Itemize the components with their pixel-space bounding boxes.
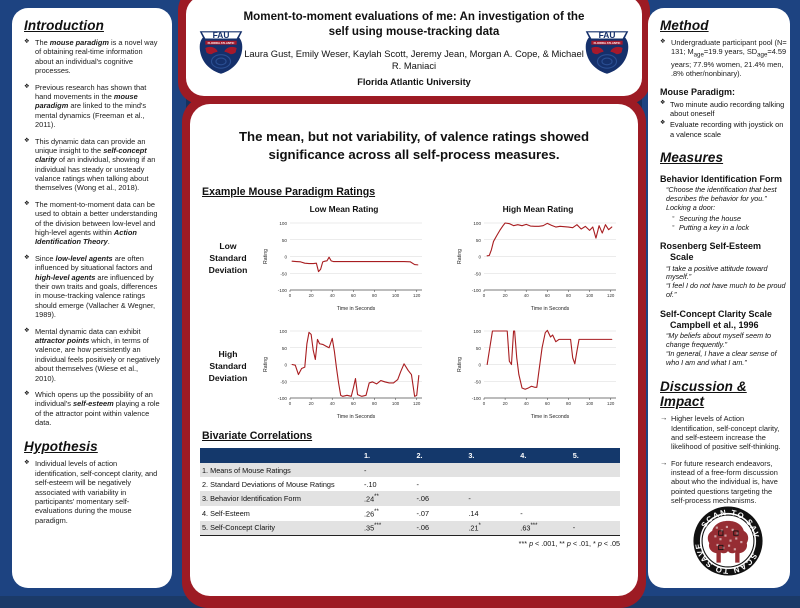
table-row: 3. Behavior Identification Form.24**-.06… [200,491,620,506]
svg-text:FAU: FAU [213,30,230,40]
svg-text:0: 0 [284,255,287,260]
table-cell: -.10 [360,477,412,491]
table-row: 1. Means of Mouse Ratings- [200,463,620,477]
discussion-heading: Discussion & Impact [660,379,788,409]
poster-canvas: FAU FLORIDA ATLANTIC FAU FLORIDA ATLANTI… [0,0,800,596]
measure-quote: “In general, I have a clear sense of who… [666,350,788,368]
svg-text:Time in Seconds: Time in Seconds [531,414,570,420]
brain-qr-icon[interactable]: SCAN TO SAVE SCAN TO SAVE [692,505,764,577]
measures-list: Behavior Identification Form“Choose the … [660,174,788,368]
measure-quote: “My beliefs about myself seem to change … [666,332,788,350]
bullet-item: Which opens up the possibility of an ind… [24,390,160,428]
svg-text:100: 100 [279,221,287,226]
measure-subquote: Putting a key in a lock [672,223,788,232]
table-cell: - [569,521,620,536]
measure-name: Self-Concept Clarity ScaleCampbell et al… [660,309,788,330]
measure-quote: “Choose the identification that best des… [666,186,788,204]
measure-quote: Locking a door: [666,204,788,213]
svg-text:60: 60 [545,401,550,406]
chart-grid: Low Mean Rating High Mean Rating LowStan… [196,204,636,424]
svg-text:Time in Seconds: Time in Seconds [531,306,570,312]
chart-column-title-low: Low Mean Rating [260,204,428,214]
svg-text:50: 50 [476,238,482,243]
svg-text:FLORIDA ATLANTIC: FLORIDA ATLANTIC [208,41,235,45]
svg-text:FLORIDA ATLANTIC: FLORIDA ATLANTIC [594,41,621,45]
table-significance-note: *** p < .001, ** p < .01, * p < .05 [200,539,620,548]
poster-university: Florida Atlantic University [242,77,586,87]
hypothesis-heading: Hypothesis [24,439,160,454]
table-cell [569,506,620,521]
table-cell: -.07 [412,506,464,521]
row-label-high-sd: HighStandardDeviation [196,348,260,384]
table-column-header: 2. [412,448,464,463]
svg-text:0: 0 [284,363,287,368]
table-row: 2. Standard Deviations of Mouse Ratings-… [200,477,620,491]
svg-text:20: 20 [503,401,508,406]
table-header-row: 1.2.3.4.5. [200,448,620,463]
table-cell: .63*** [516,521,568,536]
svg-text:Time in Seconds: Time in Seconds [337,306,376,312]
svg-text:0: 0 [483,293,486,298]
table-cell: -.06 [412,521,464,536]
bullet-item: This dynamic data can provide an unique … [24,137,160,193]
main-headline: The mean, but not variability, of valenc… [206,128,622,163]
svg-text:20: 20 [309,401,314,406]
svg-text:120: 120 [607,401,615,406]
svg-text:FAU: FAU [599,30,616,40]
bullet-item: Since low-level agents are often influen… [24,254,160,320]
svg-text:120: 120 [607,293,615,298]
bullet-item: Higher levels of Action Identification, … [660,414,788,452]
svg-text:-100: -100 [278,288,288,293]
table-cell: .35*** [360,521,412,536]
svg-text:80: 80 [372,401,377,406]
svg-text:100: 100 [392,293,400,298]
table-column-header: 5. [569,448,620,463]
svg-text:0: 0 [289,401,292,406]
table-row-label: 3. Behavior Identification Form [200,491,360,506]
table-row-label: 5. Self-Concept Clarity [200,521,360,536]
svg-text:40: 40 [330,401,335,406]
table-cell [516,491,568,506]
svg-text:100: 100 [279,329,287,334]
introduction-heading: Introduction [24,18,160,33]
measure-quote: “I take a positive attitude toward mysel… [666,265,788,283]
svg-text:0: 0 [478,255,481,260]
table-cell [464,463,516,477]
svg-text:40: 40 [330,293,335,298]
discussion-bullet-list: Higher levels of Action Identification, … [660,414,788,506]
svg-text:-100: -100 [472,396,482,401]
svg-text:50: 50 [282,238,288,243]
table-cell: .14 [464,506,516,521]
table-row-label: 1. Means of Mouse Ratings [200,463,360,477]
correlations-table: 1.2.3.4.5. 1. Means of Mouse Ratings-2. … [200,448,620,536]
example-ratings-heading: Example Mouse Paradigm Ratings [202,186,375,198]
chart-high-mean-high-sd: -100-50050100020406080100120RatingTime i… [454,324,622,420]
svg-text:100: 100 [392,401,400,406]
mouse-paradigm-item: Two minute audio recording talking about… [660,100,788,119]
svg-text:60: 60 [545,293,550,298]
measure-subquote-list: Securing the housePutting a key in a loc… [660,214,788,232]
table-cell: .24** [360,491,412,506]
svg-text:Rating: Rating [263,249,269,264]
measure-subquote: Securing the house [672,214,788,223]
svg-text:-100: -100 [472,288,482,293]
bullet-item: The mouse paradigm is a novel way of obt… [24,38,160,76]
table-column-header: 1. [360,448,412,463]
svg-text:Rating: Rating [457,249,463,264]
svg-text:100: 100 [473,221,481,226]
table-cell: - [412,477,464,491]
svg-text:0: 0 [478,363,481,368]
table-cell: -.06 [412,491,464,506]
table-cell: .21* [464,521,516,536]
method-bullet-list: Undergraduate participant pool (N= 131; … [660,38,788,78]
mouse-paradigm-bullet-list: Two minute audio recording talking about… [660,100,788,139]
table-cell [569,463,620,477]
table-cell [569,491,620,506]
table-cell [569,477,620,491]
table-row-label: 2. Standard Deviations of Mouse Ratings [200,477,360,491]
mouse-paradigm-heading: Mouse Paradigm: [660,87,788,97]
hypothesis-bullet-list: Individual levels of action identificati… [24,459,160,525]
svg-text:Rating: Rating [457,357,463,372]
svg-text:80: 80 [566,401,571,406]
bullet-item: The moment-to-moment data can be used to… [24,200,160,247]
chart-column-title-high: High Mean Rating [454,204,622,214]
svg-text:-100: -100 [278,396,288,401]
svg-text:120: 120 [413,293,421,298]
bullet-item: For future research endeavors, instead o… [660,459,788,506]
poster-authors: Laura Gust, Emily Weser, Kaylah Scott, J… [242,48,586,72]
svg-text:20: 20 [503,293,508,298]
left-column: Introduction The mouse paradigm is a nov… [24,18,160,532]
table-cell: .26** [360,506,412,521]
chart-low-mean-high-sd: -100-50050100020406080100120RatingTime i… [260,324,428,420]
svg-text:-50: -50 [474,271,481,276]
fau-owl-logo-right: FAU FLORIDA ATLANTIC [578,20,636,76]
poster-title: Moment-to-moment evaluations of me: An i… [242,10,586,40]
chart-low-mean-low-sd: -100-50050100020406080100120RatingTime i… [260,216,428,312]
method-heading: Method [660,18,788,33]
measure-quote: “I feel I do not have much to be proud o… [666,282,788,300]
table-body: 1. Means of Mouse Ratings-2. Standard De… [200,463,620,536]
poster-header: FAU FLORIDA ATLANTIC FAU FLORIDA ATLANTI… [186,0,642,96]
measure-name: Behavior Identification Form [660,174,788,185]
svg-text:100: 100 [586,401,594,406]
svg-text:100: 100 [473,329,481,334]
table-column-header: 3. [464,448,516,463]
svg-text:20: 20 [309,293,314,298]
svg-text:-50: -50 [474,379,481,384]
introduction-bullet-list: The mouse paradigm is a novel way of obt… [24,38,160,427]
mouse-paradigm-item: Evaluate recording with joystick on a va… [660,120,788,139]
svg-text:-50: -50 [280,271,287,276]
chart-high-mean-low-sd: -100-50050100020406080100120RatingTime i… [454,216,622,312]
svg-text:100: 100 [586,293,594,298]
table-cell [412,463,464,477]
bullet-item: Previous research has shown that hand mo… [24,83,160,130]
table-cell: - [360,463,412,477]
bullet-item: Undergraduate participant pool (N= 131; … [660,38,788,78]
table-cell: - [464,491,516,506]
right-column: Method Undergraduate participant pool (N… [660,18,788,513]
svg-text:80: 80 [566,293,571,298]
svg-text:40: 40 [524,401,529,406]
table-row-label: 4. Self-Esteem [200,506,360,521]
svg-text:60: 60 [351,293,356,298]
table-column-header [200,448,360,463]
svg-text:50: 50 [476,346,482,351]
svg-text:60: 60 [351,401,356,406]
table-row: 4. Self-Esteem.26**-.07.14- [200,506,620,521]
svg-text:40: 40 [524,293,529,298]
svg-text:Time in Seconds: Time in Seconds [337,414,376,420]
table-cell: - [516,506,568,521]
bivariate-correlations-heading: Bivariate Correlations [202,430,312,442]
row-label-low-sd: LowStandardDeviation [196,240,260,276]
svg-text:50: 50 [282,346,288,351]
svg-text:Rating: Rating [263,357,269,372]
table-cell [464,477,516,491]
table-column-header: 4. [516,448,568,463]
table-cell [516,463,568,477]
table-cell [516,477,568,491]
table-row: 5. Self-Concept Clarity.35***-.06.21*.63… [200,521,620,536]
svg-text:0: 0 [483,401,486,406]
measure-name: Rosenberg Self-EsteemScale [660,241,788,262]
svg-text:120: 120 [413,401,421,406]
bullet-item: Individual levels of action identificati… [24,459,160,525]
svg-text:80: 80 [372,293,377,298]
svg-text:0: 0 [289,293,292,298]
svg-text:-50: -50 [280,379,287,384]
measures-heading: Measures [660,150,788,165]
bullet-item: Mental dynamic data can exhibit attracto… [24,327,160,383]
